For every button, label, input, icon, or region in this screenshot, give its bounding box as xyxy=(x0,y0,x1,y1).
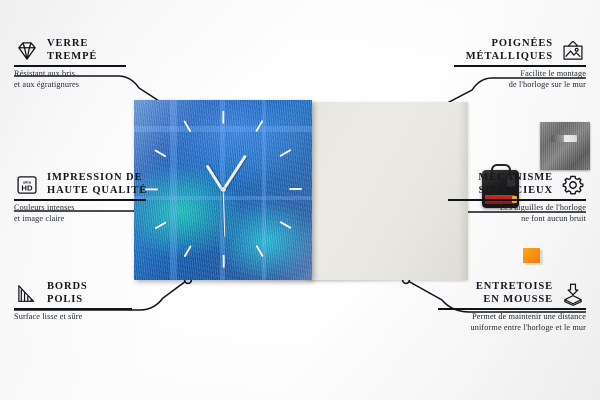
feature-sub-line2: et image claire xyxy=(14,214,154,225)
feature-title-line1: VERRE xyxy=(47,38,97,51)
feature-rule xyxy=(14,199,146,201)
hour-marker xyxy=(222,254,224,267)
glass-clock-face xyxy=(134,100,312,280)
feature-poignees-metalliques[interactable]: POIGNÉES MÉTALLIQUES Facilite le montage… xyxy=(446,38,586,90)
feature-title-line2: MÉTALLIQUES xyxy=(466,51,553,64)
gear-icon xyxy=(560,173,586,197)
hanger-slot xyxy=(551,135,577,142)
feature-rule xyxy=(454,65,586,67)
feature-verre-trempe[interactable]: VERRE TREMPÉ Résistant aux bris et aux é… xyxy=(14,38,134,90)
feature-header: BORDS POLIS xyxy=(14,281,140,306)
feature-title-line1: IMPRESSION DE xyxy=(47,172,147,185)
feature-entretoise-en-mousse[interactable]: ENTRETOISE EN MOUSSE Permet de maintenir… xyxy=(430,281,586,333)
metal-hanger-plate xyxy=(540,122,590,170)
feature-title-line1: POIGNÉES xyxy=(466,38,553,51)
feature-sub-line2: et aux égratignures xyxy=(14,80,134,91)
diamond-icon xyxy=(14,39,40,63)
feature-rule xyxy=(448,199,586,201)
feature-sub-line1: Les aiguilles de l'horloge xyxy=(440,203,586,214)
feature-bords-polis[interactable]: BORDS POLIS Surface lisse et sûre xyxy=(14,281,140,323)
feature-title-line1: MÉCANISME xyxy=(478,172,553,185)
foam-spacer-icon xyxy=(560,282,586,306)
feature-rule xyxy=(438,308,586,310)
feature-title-line2: EN MOUSSE xyxy=(476,294,553,307)
feature-title-line2: SILENCIEUX xyxy=(478,185,553,198)
infographic-canvas: VERRE TREMPÉ Résistant aux bris et aux é… xyxy=(0,0,600,400)
feature-sub-line1: Couleurs intenses xyxy=(14,203,154,214)
ultra-hd-big-label: HD xyxy=(21,183,33,192)
feature-sub-line1: Facilite le montage xyxy=(446,69,586,80)
feature-impression-haute-qualite[interactable]: ultra HD IMPRESSION DE HAUTE QUALITÉ Cou… xyxy=(14,172,154,224)
feature-title-line1: BORDS xyxy=(47,281,88,294)
feature-rule xyxy=(14,308,132,310)
feature-rule xyxy=(14,65,126,67)
product-image xyxy=(134,100,468,282)
feature-title-line2: TREMPÉ xyxy=(47,51,97,64)
feature-sub-line2: de l'horloge sur le mur xyxy=(446,80,586,91)
feature-header: POIGNÉES MÉTALLIQUES xyxy=(446,38,586,63)
feature-sub-line2: uniforme entre l'horloge et le mur xyxy=(430,323,586,334)
feature-title-line2: HAUTE QUALITÉ xyxy=(47,185,147,198)
feature-header: MÉCANISME SILENCIEUX xyxy=(440,172,586,197)
feature-title-line2: POLIS xyxy=(47,294,88,307)
feature-header: VERRE TREMPÉ xyxy=(14,38,134,63)
feature-mecanisme-silencieux[interactable]: MÉCANISME SILENCIEUX Les aiguilles de l'… xyxy=(440,172,586,224)
feature-sub-line1: Surface lisse et sûre xyxy=(14,312,140,323)
feature-header: ENTRETOISE EN MOUSSE xyxy=(430,281,586,306)
feature-sub-line1: Résistant aux bris xyxy=(14,69,134,80)
feature-title-line1: ENTRETOISE xyxy=(476,281,553,294)
feature-sub-line2: ne font aucun bruit xyxy=(440,214,586,225)
feature-sub-line1: Permet de maintenir une distance xyxy=(430,312,586,323)
hanging-picture-icon xyxy=(560,39,586,63)
ultra-hd-icon: ultra HD xyxy=(14,173,40,197)
polished-edge-icon xyxy=(14,282,40,306)
feature-header: ultra HD IMPRESSION DE HAUTE QUALITÉ xyxy=(14,172,154,197)
clock-hub xyxy=(221,187,226,192)
hour-marker xyxy=(222,110,224,123)
foam-spacer xyxy=(523,248,540,263)
